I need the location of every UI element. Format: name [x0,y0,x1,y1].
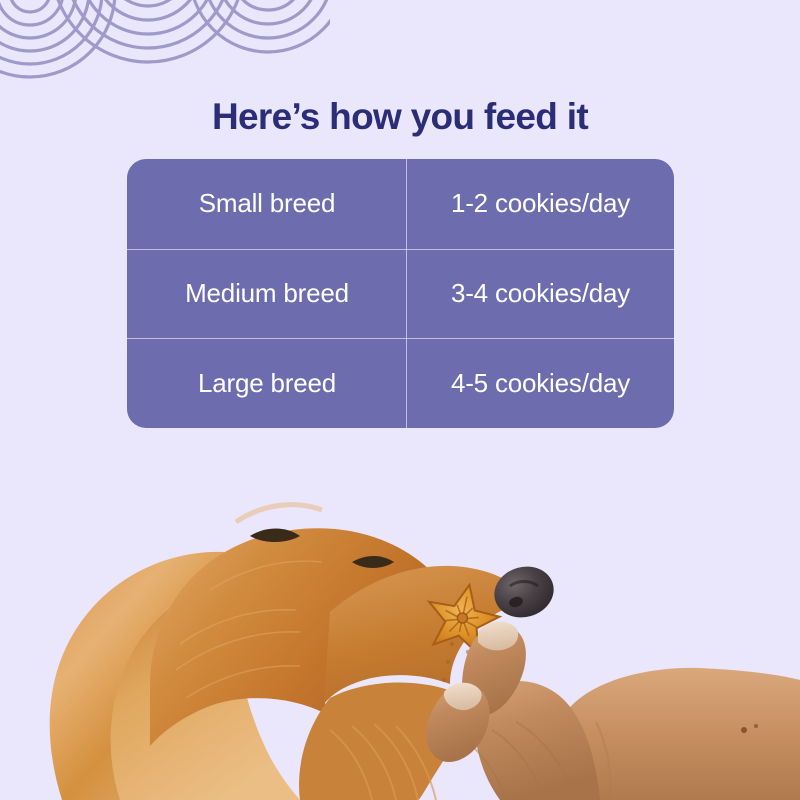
table-cell-amount: 4-5 cookies/day [407,338,674,428]
table-row: Small breed 1-2 cookies/day [127,159,674,249]
poster-canvas: Here’s how you feed it Small breed 1-2 c… [0,0,800,800]
table-row: Large breed 4-5 cookies/day [127,338,674,428]
feeding-guide-table: Small breed 1-2 cookies/day Medium breed… [127,159,674,428]
table-cell-breed: Medium breed [127,249,407,339]
table-cell-amount: 1-2 cookies/day [407,159,674,249]
table-cell-breed: Small breed [127,159,407,249]
page-title: Here’s how you feed it [0,95,800,139]
table-cell-amount: 3-4 cookies/day [407,249,674,339]
table-cell-breed: Large breed [127,338,407,428]
concentric-arcs-decoration [0,0,330,105]
table-row: Medium breed 3-4 cookies/day [127,249,674,339]
dog-eating-cookie-photo [0,430,800,800]
